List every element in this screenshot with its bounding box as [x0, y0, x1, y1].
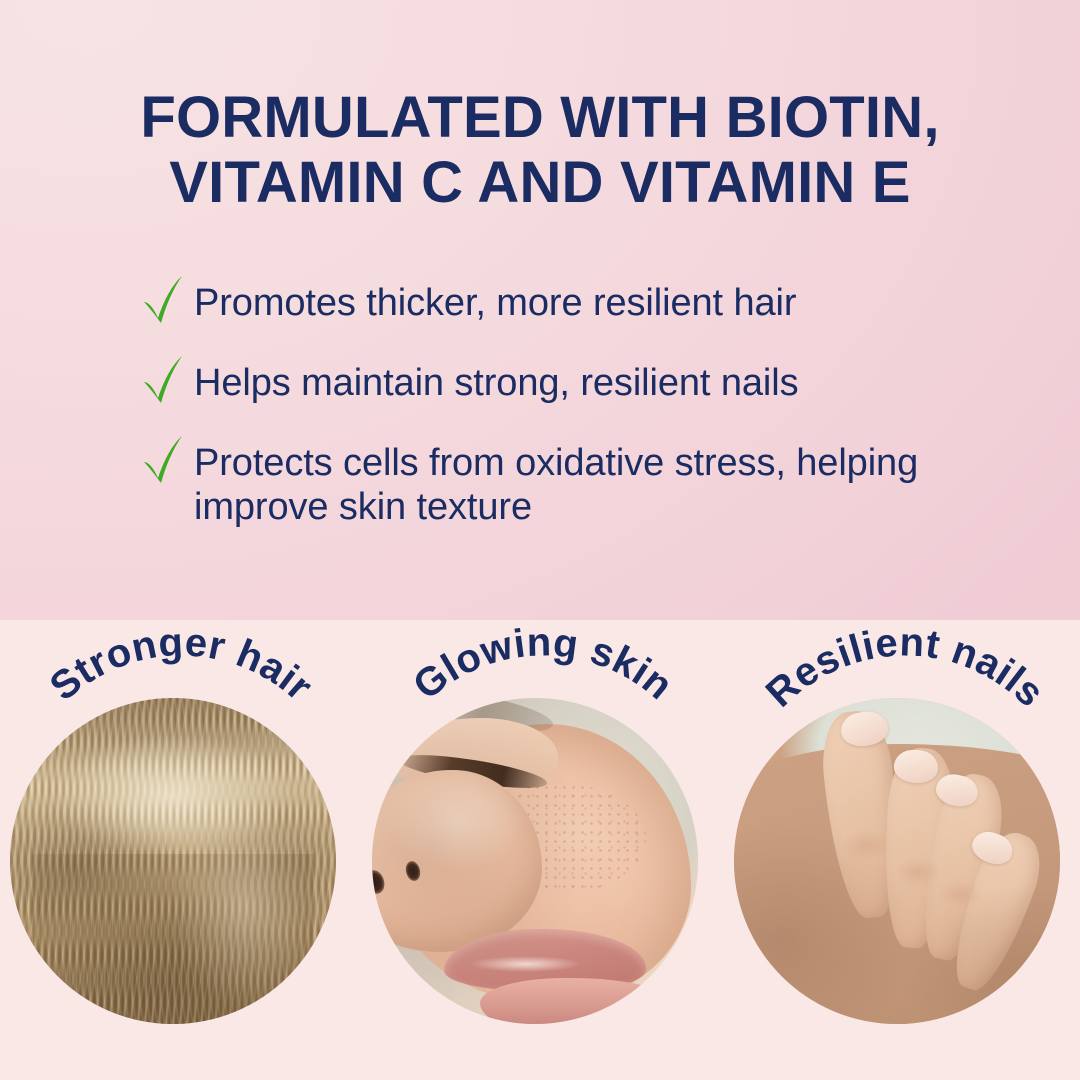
benefit-card-caption: Glowing skin: [405, 620, 681, 708]
benefit-list-item-label: Protects cells from oxidative stress, he…: [194, 438, 1000, 530]
benefit-card-resilient-nails: Resilient nails: [722, 620, 1080, 1080]
face-closeup-photo: [372, 698, 698, 1024]
page-title: FORMULATED WITH BIOTIN, VITAMIN C AND VI…: [0, 86, 1080, 216]
headline-panel: FORMULATED WITH BIOTIN, VITAMIN C AND VI…: [0, 0, 1080, 620]
headline-line-1: FORMULATED WITH BIOTIN,: [40, 86, 1040, 151]
benefit-list-item: Protects cells from oxidative stress, he…: [140, 438, 1000, 530]
benefit-card-stronger-hair: Stronger hair: [0, 620, 358, 1080]
headline-line-2: VITAMIN C AND VITAMIN E: [40, 151, 1040, 216]
check-icon: [140, 272, 186, 328]
benefit-card-glowing-skin: Glowing skin: [360, 620, 720, 1080]
benefit-card-caption: Stronger hair: [42, 620, 321, 709]
product-infographic: FORMULATED WITH BIOTIN, VITAMIN C AND VI…: [0, 0, 1080, 1080]
hand-nails-photo: [734, 698, 1060, 1024]
benefit-list-item-label: Helps maintain strong, resilient nails: [194, 358, 798, 405]
benefit-list: Promotes thicker, more resilient hair He…: [140, 278, 1000, 530]
check-icon: [140, 432, 186, 488]
benefit-list-item: Promotes thicker, more resilient hair: [140, 278, 1000, 328]
check-icon: [140, 352, 186, 408]
benefit-list-item-label: Promotes thicker, more resilient hair: [194, 278, 796, 325]
benefit-cards-panel: Stronger hair Glowin: [0, 620, 1080, 1080]
hair-closeup-photo: [10, 698, 336, 1024]
benefit-list-item: Helps maintain strong, resilient nails: [140, 358, 1000, 408]
